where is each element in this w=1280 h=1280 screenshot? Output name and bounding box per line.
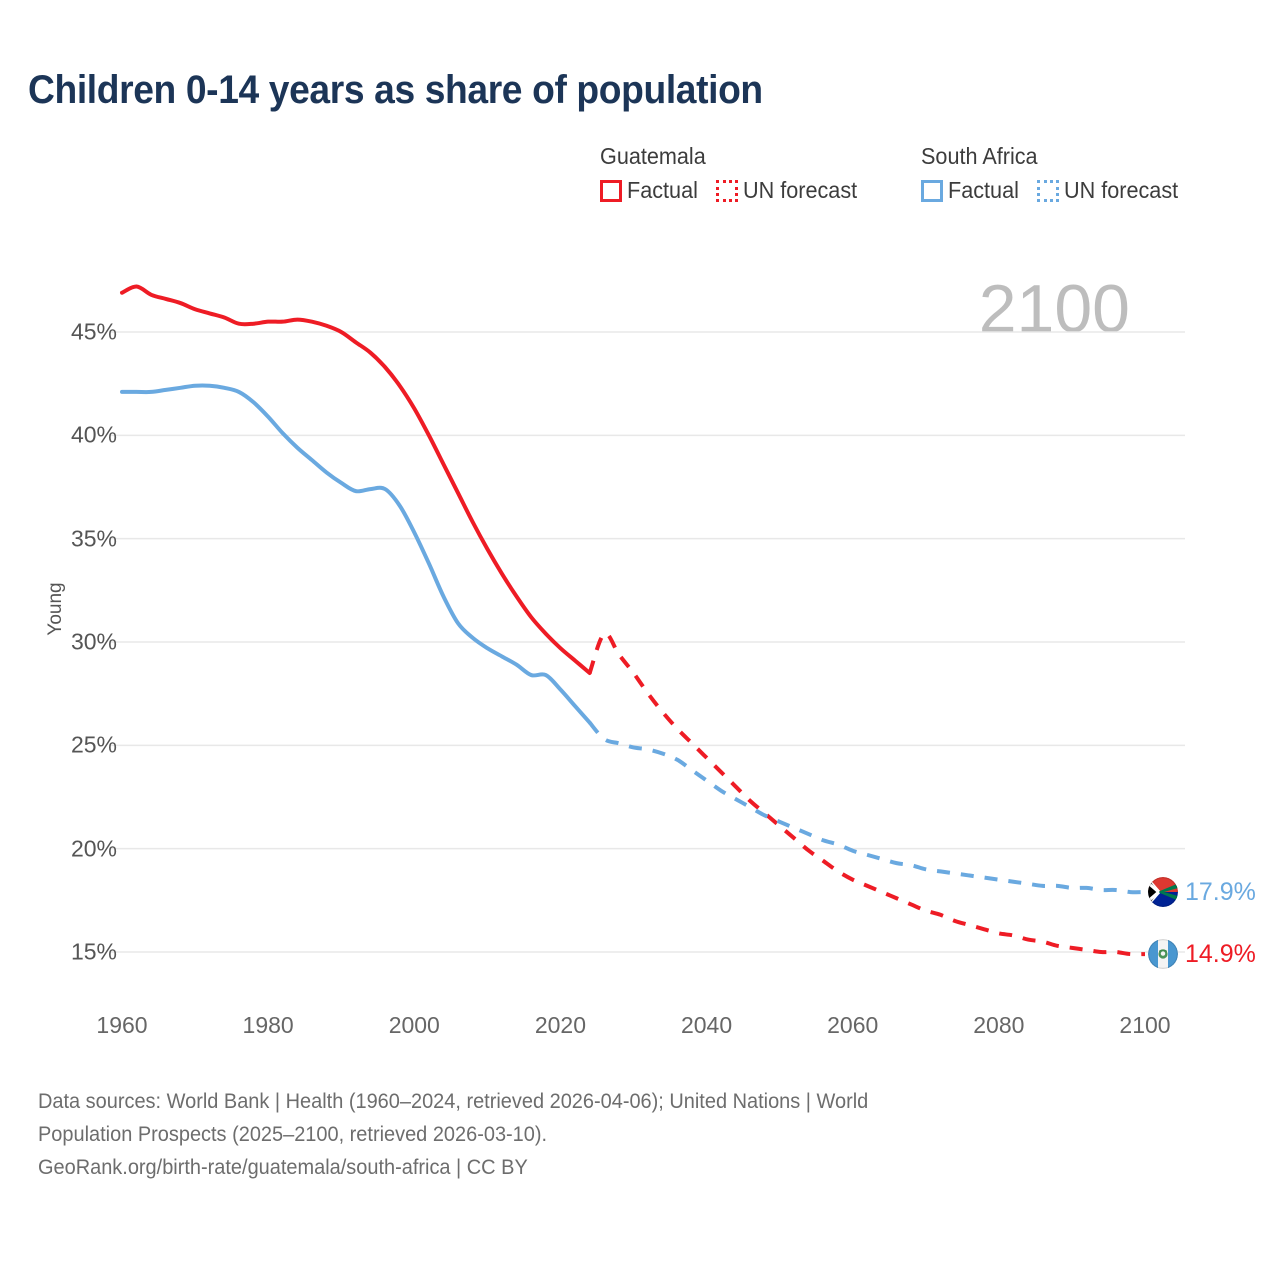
guatemala-flag-icon: [1148, 939, 1178, 969]
south-africa-flag-icon: [1148, 877, 1178, 907]
series-endpoint-south-africa[interactable]: 17.9%: [1148, 877, 1256, 907]
y-axis-tick-label: 20%: [37, 835, 117, 862]
footer-line[interactable]: GeoRank.org/birth-rate/guatemala/south-a…: [38, 1151, 1159, 1184]
footer-sources: Data sources: World Bank | Health (1960–…: [38, 1085, 1218, 1184]
x-axis-tick-label: 2100: [1105, 1012, 1185, 1039]
footer-line: Population Prospects (2025–2100, retriev…: [38, 1118, 1159, 1151]
chart-page: Children 0-14 years as share of populati…: [0, 0, 1280, 1280]
x-axis-tick-label: 2000: [374, 1012, 454, 1039]
y-axis-tick-label: 40%: [37, 422, 117, 449]
y-axis-tick-label: 30%: [37, 629, 117, 656]
x-axis-tick-label: 1960: [82, 1012, 162, 1039]
endpoint-value-label: 14.9%: [1185, 940, 1256, 969]
y-axis-tick-label: 15%: [37, 939, 117, 966]
endpoint-value-label: 17.9%: [1185, 878, 1256, 907]
x-axis-tick-label: 2040: [667, 1012, 747, 1039]
y-axis-tick-label: 45%: [37, 319, 117, 346]
series-endpoint-guatemala[interactable]: 14.9%: [1148, 939, 1256, 969]
x-axis-tick-label: 1980: [228, 1012, 308, 1039]
y-axis-tick-label: 25%: [37, 732, 117, 759]
x-axis-tick-label: 2060: [813, 1012, 893, 1039]
footer-line: Data sources: World Bank | Health (1960–…: [38, 1085, 1159, 1118]
y-axis-tick-label: 35%: [37, 525, 117, 552]
x-axis-tick-label: 2020: [520, 1012, 600, 1039]
x-axis-tick-label: 2080: [959, 1012, 1039, 1039]
